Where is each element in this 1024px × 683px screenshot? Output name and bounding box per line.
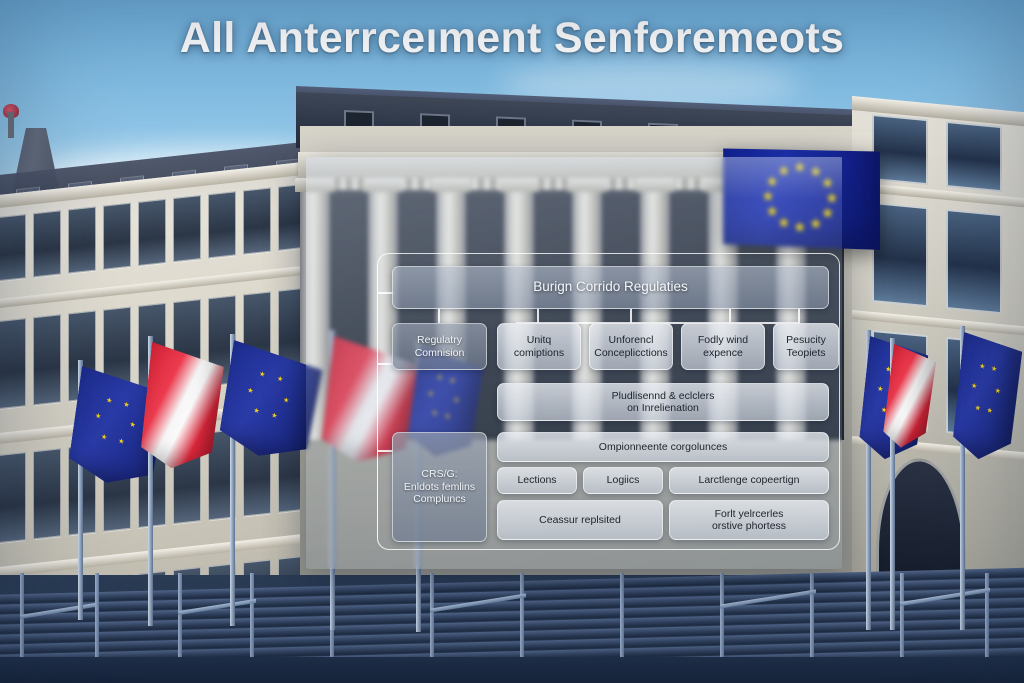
scene-root: ★★★★★★★★★★★★★★★★★★★★★★★★★★★★★★ ★★★★★★★★★…: [0, 0, 1024, 683]
window: [243, 187, 271, 254]
diagram-node-label: PesucityTeopiets: [786, 334, 826, 359]
diagram-node-label: Forlt yelrcerlesorstive phortess: [712, 508, 786, 533]
flag-star: ★: [123, 401, 130, 409]
diagram-node-ceassur-replsited[interactable]: Ceassur replsited: [497, 500, 663, 540]
window: [946, 121, 1002, 192]
diagram-node-logiics[interactable]: Logiics: [583, 467, 663, 494]
diagram-connector: [798, 309, 800, 323]
diagram-node-unitq-comiptions[interactable]: Unitqcomiptions: [497, 323, 581, 370]
flag-star: ★: [974, 405, 981, 413]
flag-star: ★: [979, 363, 986, 371]
window: [138, 199, 166, 266]
window: [872, 114, 928, 185]
window: [103, 203, 131, 270]
flag-star: ★: [253, 407, 260, 416]
flag-star: ★: [129, 421, 136, 429]
diagram-node-unforencl-conceplicctions[interactable]: UnforenclConceplicctions: [589, 323, 673, 370]
window: [33, 448, 61, 539]
window: [33, 314, 61, 405]
diagram-node-label: RegulatryComnision: [415, 334, 465, 359]
flag-star: ★: [986, 407, 993, 415]
window: [946, 209, 1002, 314]
diagram-node-crs-g[interactable]: CRS/G:Enldots femlinsCompluncs: [392, 432, 487, 542]
page-title: All Anterrceıment Senforemeots: [0, 14, 1024, 63]
window: [33, 210, 61, 277]
window: [68, 206, 96, 273]
diagram-node-pludlisennd-eclclers[interactable]: Pludlisennd & eclclerson Inrelienation: [497, 383, 829, 421]
diagram-node-forlt-yelrcerles[interactable]: Forlt yelrcerlesorstive phortess: [669, 500, 829, 540]
panel-top-highlight: [306, 157, 842, 199]
flag-star: ★: [95, 413, 102, 421]
flag-star: ★: [877, 385, 884, 393]
frame-tick: [377, 292, 393, 294]
flag-star: ★: [259, 371, 266, 380]
diagram-node-pesucity-teopiets[interactable]: PesucityTeopiets: [773, 323, 839, 370]
flag-star: ★: [247, 386, 254, 395]
diagram-node-label: Pludlisennd & eclclerson Inrelienation: [612, 390, 715, 415]
diagram-node-label: Ompionneente corgolunces: [599, 441, 727, 454]
diagram-node-fodly-wind-expence[interactable]: Fodly windexpence: [681, 323, 765, 370]
diagram-connector: [729, 309, 731, 323]
window: [0, 318, 26, 409]
diagram-node-label: UnforenclConceplicctions: [594, 334, 668, 359]
diagram-node-header[interactable]: Burign Corrido Regulaties: [392, 266, 829, 309]
diagram-node-label: Lections: [517, 474, 556, 487]
flag-star: ★: [282, 396, 289, 405]
diagram-node-label: Unitqcomiptions: [514, 334, 564, 359]
diagram-node-ompionneente-corgolunces[interactable]: Ompionneente corgolunces: [497, 432, 829, 462]
diagram-node-larctlenge-copeertign[interactable]: Larctlenge copeertign: [669, 467, 829, 494]
flag-star: ★: [118, 438, 125, 446]
window: [0, 452, 26, 543]
flag-star: ★: [276, 375, 283, 384]
flag-star: ★: [994, 388, 1001, 396]
plaza-ground: [0, 657, 1024, 683]
diagram-node-label: Ceassur replsited: [539, 514, 621, 527]
diagram-node-label: Logiics: [607, 474, 640, 487]
flag-star: ★: [991, 365, 998, 373]
frame-tick: [377, 363, 393, 365]
window: [208, 191, 236, 258]
flag-star: ★: [971, 383, 978, 391]
diagram-node-lections[interactable]: Lections: [497, 467, 577, 494]
window: [0, 214, 26, 281]
diagram-node-label: Fodly windexpence: [698, 334, 748, 359]
diagram-connector: [438, 309, 440, 323]
diagram-node-label: Larctlenge copeertign: [699, 474, 800, 487]
frame-tick: [377, 450, 393, 452]
diagram-node-label: Burign Corrido Regulaties: [533, 281, 688, 294]
diagram-connector: [537, 309, 539, 323]
window: [173, 195, 201, 262]
flag-star: ★: [106, 396, 113, 404]
spire-tip: [8, 112, 14, 138]
window: [872, 202, 928, 307]
flag-star: ★: [101, 433, 108, 441]
diagram-node-label: CRS/G:Enldots femlinsCompluncs: [404, 468, 475, 506]
flag-star: ★: [271, 412, 278, 421]
diagram-node-regulatry-commission[interactable]: RegulatryComnision: [392, 323, 487, 370]
diagram-connector: [630, 309, 632, 323]
